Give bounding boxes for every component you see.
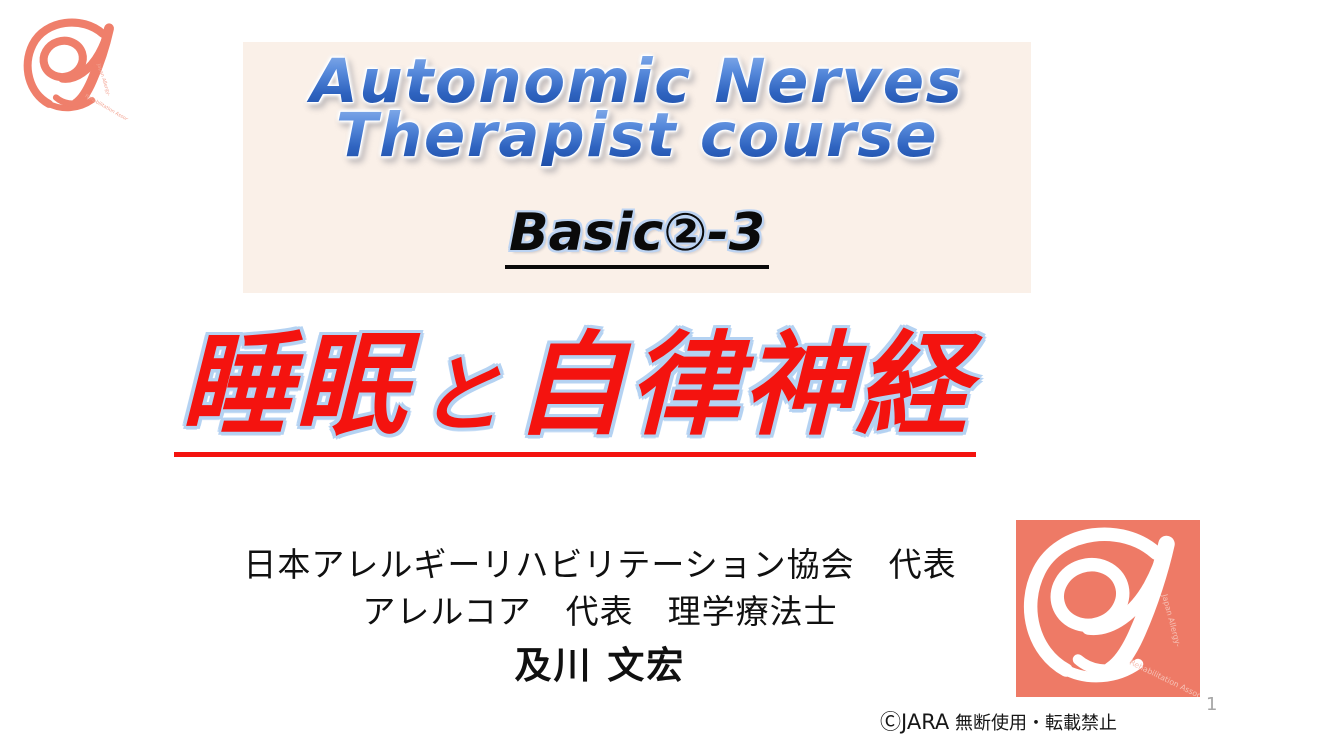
presenter-name: 及川 文宏 bbox=[150, 640, 1050, 693]
copyright-mark: ⒸJARA bbox=[880, 710, 949, 734]
presenter-block: 日本アレルギーリハビリテーション協会 代表 アレルコア 代表 理学療法士 及川 … bbox=[150, 542, 1050, 692]
copyright-notice: ⒸJARA 無断使用・転載禁止 bbox=[880, 706, 1117, 736]
slide-canvas: Japan Allergy- Rehabilitation Assoc. Aut… bbox=[0, 0, 1320, 741]
association-logo: Japan Allergy- Rehabilitation Associatio… bbox=[1016, 520, 1200, 697]
japanese-main-title-text: 睡眠と自律神経 bbox=[174, 322, 976, 457]
japanese-title-part1: 睡眠 bbox=[180, 321, 408, 451]
affiliation-line-1: 日本アレルギーリハビリテーション協会 代表 bbox=[150, 542, 1050, 589]
svg-text:Rehabilitation Assoc.: Rehabilitation Assoc. bbox=[84, 93, 130, 120]
page-number: 1 bbox=[1206, 694, 1217, 715]
title-background-panel bbox=[243, 42, 1031, 293]
svg-text:Japan Allergy-: Japan Allergy- bbox=[1160, 592, 1183, 648]
japanese-title-part2: 自律神経 bbox=[514, 321, 970, 451]
jara-monogram-icon: Japan Allergy- Rehabilitation Assoc. bbox=[18, 14, 130, 120]
svg-text:Rehabilitation Association: Rehabilitation Association bbox=[1128, 658, 1200, 697]
japanese-main-title: 睡眠と自律神経 bbox=[0, 322, 1150, 457]
japanese-title-particle: と bbox=[408, 346, 514, 444]
copyright-text: 無断使用・転載禁止 bbox=[949, 713, 1117, 734]
affiliation-line-2: アレルコア 代表 理学療法士 bbox=[150, 589, 1050, 636]
